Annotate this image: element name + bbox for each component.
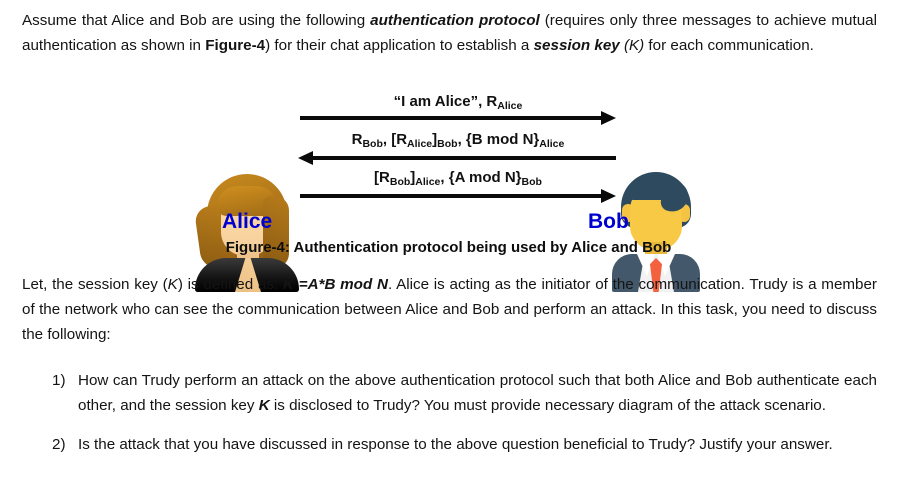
intro-text-4: for each communication.: [644, 37, 814, 54]
protocol-figure: “I am Alice”, RAlice RBob, [RAlice]Bob, …: [0, 84, 897, 259]
message-1-arrow-head-right-icon: [601, 111, 616, 125]
intro-emphasis-figure-ref: Figure-4: [205, 37, 265, 54]
question-marker-2: 2): [52, 432, 66, 457]
actor-label-bob: Bob: [588, 210, 629, 234]
question-item-2: 2)Is the attack that you have discussed …: [0, 432, 897, 457]
message-2-arrow-head-left-icon: [298, 151, 313, 165]
question-2-text-1: Is the attack that you have discussed in…: [78, 436, 833, 453]
question-list: 1)How can Trudy perform an attack on the…: [0, 368, 897, 471]
intro-text-3: ) for their chat application to establis…: [265, 37, 533, 54]
intro-emphasis-session-key: session key: [534, 37, 620, 54]
intro-text-1: Assume that Alice and Bob are using the …: [22, 12, 370, 29]
document-page: Assume that Alice and Bob are using the …: [0, 0, 897, 504]
intro-emphasis-k-symbol: (K): [620, 37, 644, 54]
message-1-arrow-line: [300, 116, 603, 120]
question-1-emphasis-k: K: [259, 397, 270, 414]
intro-paragraph: Assume that Alice and Bob are using the …: [22, 8, 877, 58]
session-text-1: Let, the session key (: [22, 276, 168, 293]
actor-label-alice: Alice: [222, 210, 272, 234]
session-text-2: ) is defined as:: [178, 276, 283, 293]
intro-emphasis-authentication-protocol: authentication protocol: [370, 12, 540, 29]
message-1-label: “I am Alice”, RAlice: [300, 93, 616, 110]
session-emphasis-k: K: [168, 276, 178, 293]
message-3-arrow-line: [300, 194, 603, 198]
question-item-1: 1)How can Trudy perform an attack on the…: [0, 368, 897, 418]
message-3-label: [RBob]Alice, {A mod N}Bob: [300, 169, 616, 186]
message-2-arrow-line: [313, 156, 616, 160]
message-2-label: RBob, [RAlice]Bob, {B mod N}Alice: [300, 131, 616, 148]
session-key-paragraph: Let, the session key (K) is defined as: …: [22, 272, 877, 347]
figure-caption: Figure-4: Authentication protocol being …: [0, 239, 897, 256]
question-marker-1: 1): [52, 368, 66, 393]
question-1-text-2: is disclosed to Trudy? You must provide …: [270, 397, 826, 414]
session-key-formula: K =A*B mod N: [283, 276, 388, 293]
message-3-arrow-head-right-icon: [601, 189, 616, 203]
